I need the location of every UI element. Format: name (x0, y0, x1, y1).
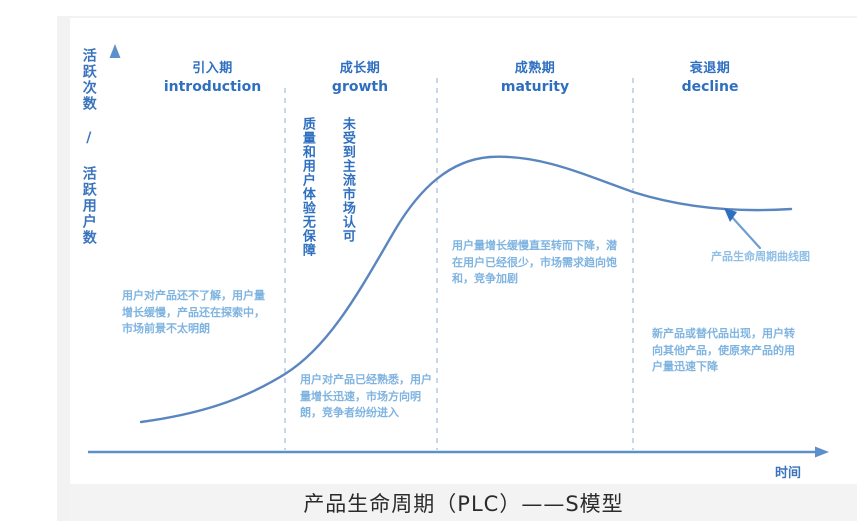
note-maturity: 用户量增长缓慢直至转而下降，潜在用户已经很少，市场需求趋向饱和，竞争加剧 (452, 238, 624, 288)
note-introduction: 用户对产品还不了解，用户量增长缓慢，产品还在探索中，市场前景不太明朗 (122, 288, 272, 338)
phase-header-growth: 成长期 growth (290, 60, 430, 96)
phase-header-introduction-cn: 引入期 (140, 60, 285, 78)
figure-title: 产品生命周期（PLC）——S模型 (303, 488, 623, 518)
phase-header-maturity-cn: 成熟期 (460, 60, 610, 78)
phase-header-maturity: 成熟期 maturity (460, 60, 610, 96)
phase-header-introduction: 引入期 introduction (140, 60, 285, 96)
note-decline: 新产品或替代品出现，用户转向其他产品，使原来产品的用户量迅速下降 (652, 326, 804, 376)
phase-header-introduction-en: introduction (140, 78, 285, 97)
vertical-note-quality: 质量和用户体验无保障 (297, 117, 316, 312)
note-growth: 用户对产品已经熟悉，用户量增长迅速，市场方向明朗，竞争者纷纷进入 (300, 372, 432, 422)
curve-callout-label: 产品生命周期曲线图 (711, 248, 810, 264)
y-axis-label: 活跃次数 / 活跃用户数 (80, 48, 97, 298)
plc-chart-figure: 活跃次数 / 活跃用户数 时间 引入期 introduction 成长期 gro… (0, 0, 857, 521)
phase-header-growth-en: growth (290, 78, 430, 97)
phase-header-decline-cn: 衰退期 (640, 60, 780, 78)
phase-header-decline: 衰退期 decline (640, 60, 780, 96)
phase-header-decline-en: decline (640, 78, 780, 97)
phase-header-growth-cn: 成长期 (290, 60, 430, 78)
phase-header-maturity-en: maturity (460, 78, 610, 97)
figure-title-bar: 产品生命周期（PLC）——S模型 (70, 484, 857, 521)
vertical-note-market: 未受到主流市场认可 (337, 117, 356, 302)
x-axis-label: 时间 (775, 462, 801, 481)
